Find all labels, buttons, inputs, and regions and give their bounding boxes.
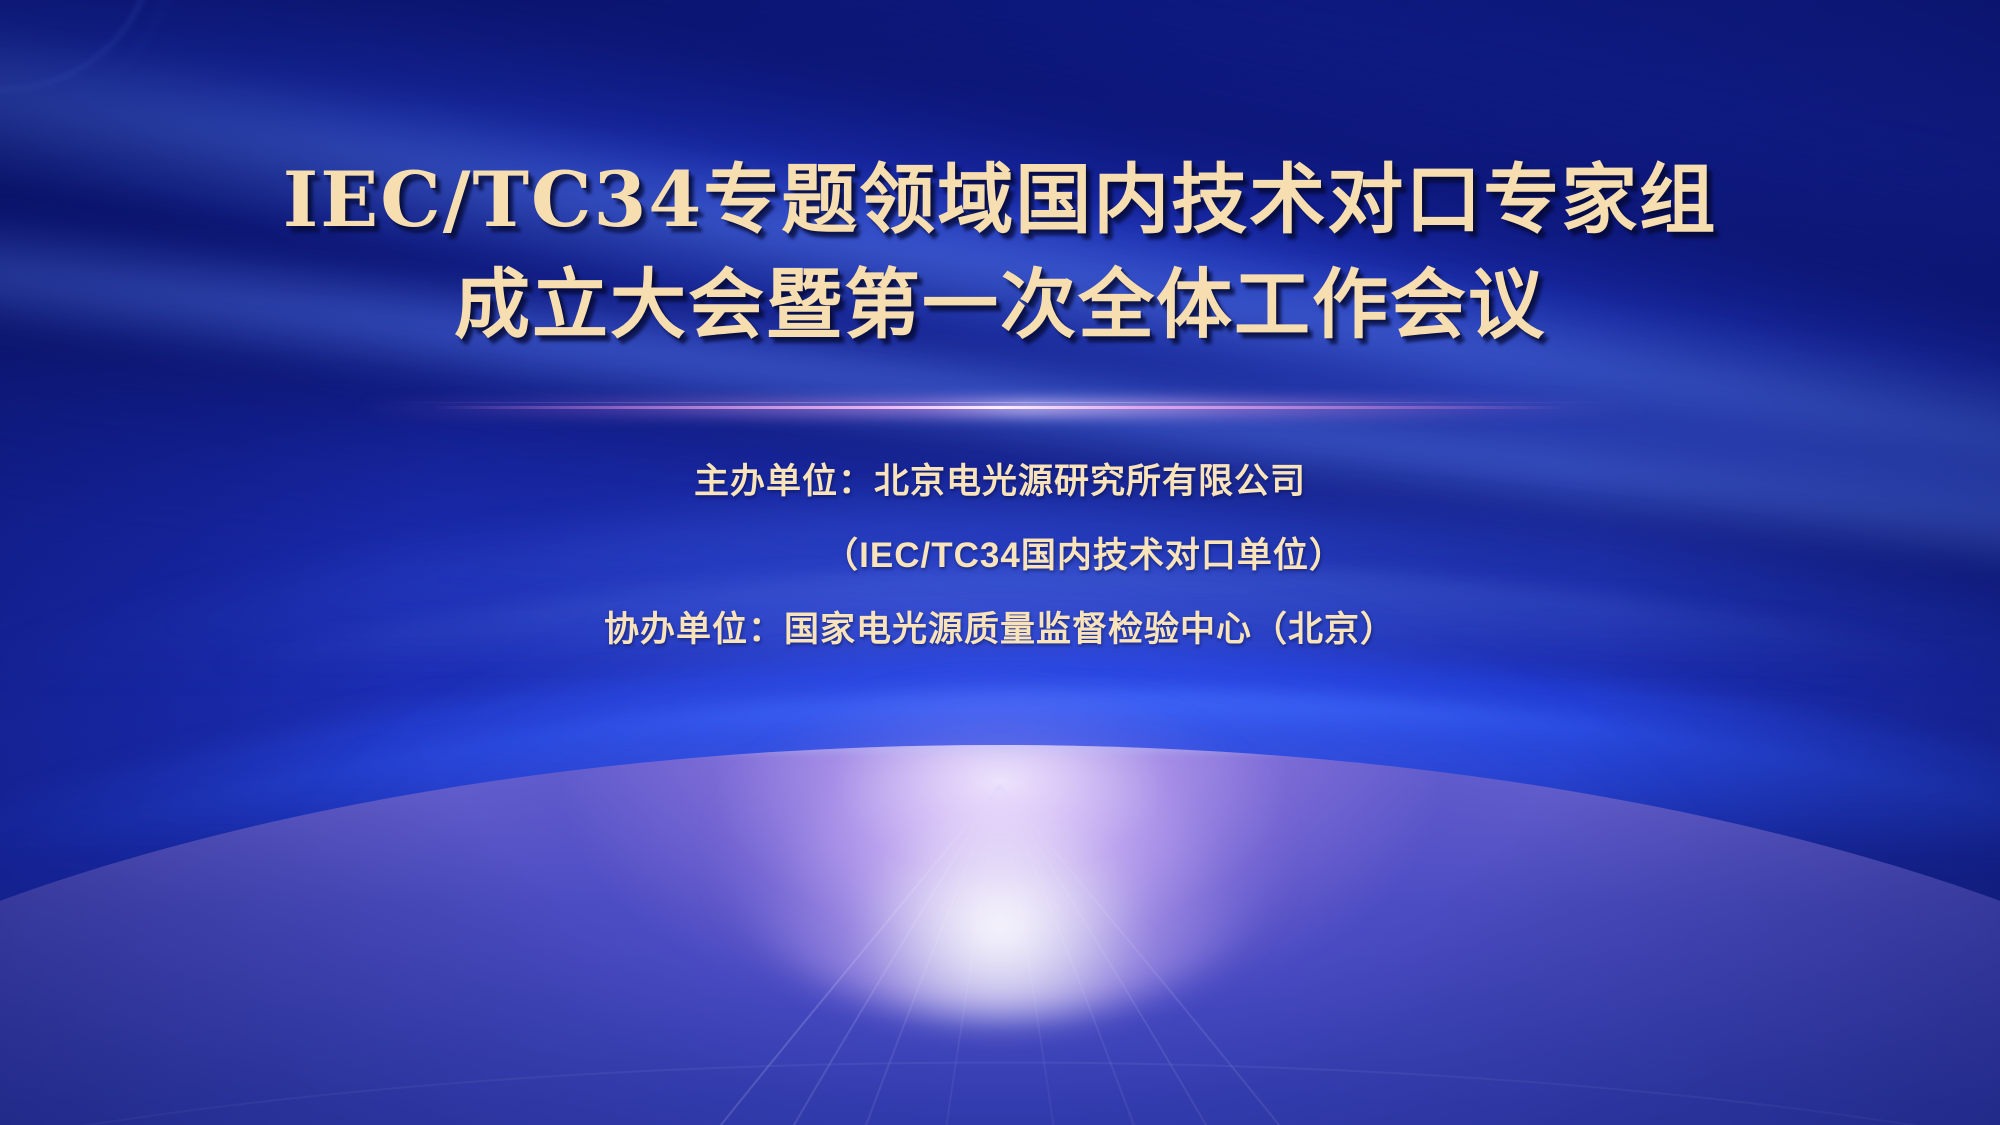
subtitle-organizer-note: （IEC/TC34国内技术对口单位） xyxy=(0,538,2000,573)
title-line-1: IEC/TC34专题领域国内技术对口专家组 xyxy=(0,148,2000,253)
banner-subtitles: 主办单位：北京电光源研究所有限公司 （IEC/TC34国内技术对口单位） 协办单… xyxy=(0,464,2000,647)
divider-core-line xyxy=(432,406,1567,409)
decorative-divider xyxy=(355,400,1645,416)
banner-title: IEC/TC34专题领域国内技术对口专家组 成立大会暨第一次全体工作会议 xyxy=(0,148,2000,358)
subtitle-organizer: 主办单位：北京电光源研究所有限公司 xyxy=(0,464,2000,499)
conference-banner: IEC/TC34专题领域国内技术对口专家组 成立大会暨第一次全体工作会议 主办单… xyxy=(0,0,2000,1125)
divider-thin-line xyxy=(381,402,1619,403)
banner-content: IEC/TC34专题领域国内技术对口专家组 成立大会暨第一次全体工作会议 主办单… xyxy=(0,0,2000,1125)
subtitle-co-organizer: 协办单位：国家电光源质量监督检验中心（北京） xyxy=(0,612,2000,647)
title-line-2: 成立大会暨第一次全体工作会议 xyxy=(0,253,2000,358)
